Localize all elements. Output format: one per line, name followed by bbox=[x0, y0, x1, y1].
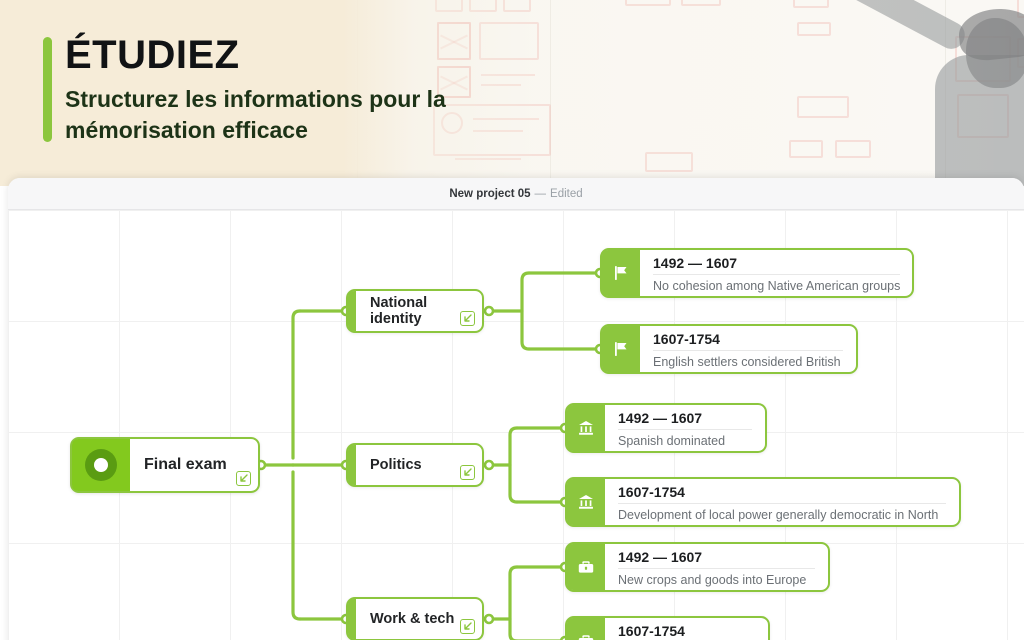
leaf-title: 1607-1754 bbox=[618, 623, 755, 640]
leaf-node[interactable]: 1492 — 1607 Spanish dominated bbox=[565, 403, 767, 453]
leaf-node[interactable]: 1607-1754 Development of local power gen… bbox=[565, 477, 961, 527]
leaf-node[interactable]: 1607-1754 English settlers considered Br… bbox=[600, 324, 858, 374]
title-separator: — bbox=[535, 188, 547, 200]
banner-title: ÉTUDIEZ bbox=[65, 33, 240, 78]
collapse-arrow-icon[interactable] bbox=[460, 619, 475, 634]
flag-icon bbox=[602, 250, 640, 296]
leaf-title: 1492 — 1607 bbox=[618, 549, 815, 569]
window-title-bar: New project 05 — Edited bbox=[8, 178, 1024, 210]
leaf-title: 1492 — 1607 bbox=[653, 255, 900, 275]
leaf-node[interactable]: 1607-1754 Trade in New England bbox=[565, 616, 770, 640]
flag-icon bbox=[602, 326, 640, 372]
branch-accent-stub bbox=[348, 291, 356, 331]
promo-banner: ÉTUDIEZ Structurez les informations pour… bbox=[0, 0, 1024, 186]
leaf-subtitle: English settlers considered British bbox=[653, 351, 843, 369]
leaf-title: 1607-1754 bbox=[618, 484, 946, 504]
branch-node-politics[interactable]: Politics bbox=[346, 443, 484, 487]
leaf-title: 1607-1754 bbox=[653, 331, 843, 351]
leaf-node[interactable]: 1492 — 1607 New crops and goods into Eur… bbox=[565, 542, 830, 592]
briefcase-icon bbox=[567, 544, 605, 590]
project-title: New project 05 bbox=[449, 188, 530, 200]
branch-accent-stub bbox=[348, 445, 356, 485]
leaf-subtitle: Spanish dominated bbox=[618, 430, 752, 448]
branch-accent-stub bbox=[348, 599, 356, 639]
collapse-arrow-icon[interactable] bbox=[460, 311, 475, 326]
leaf-subtitle: Development of local power generally dem… bbox=[618, 504, 946, 522]
app-window: New project 05 — Edited bbox=[8, 178, 1024, 640]
branch-node-work-tech[interactable]: Work & tech bbox=[346, 597, 484, 640]
briefcase-icon bbox=[567, 618, 605, 640]
leaf-subtitle: New crops and goods into Europe bbox=[618, 569, 815, 587]
leaf-node[interactable]: 1492 — 1607 No cohesion among Native Ame… bbox=[600, 248, 914, 298]
collapse-arrow-icon[interactable] bbox=[460, 465, 475, 480]
bank-icon bbox=[567, 405, 605, 451]
branch-node-national-identity[interactable]: National identity bbox=[346, 289, 484, 333]
leaf-subtitle: No cohesion among Native American groups bbox=[653, 275, 900, 293]
target-ring-icon bbox=[72, 439, 130, 491]
leaf-title: 1492 — 1607 bbox=[618, 410, 752, 430]
bank-icon bbox=[567, 479, 605, 525]
edited-status: Edited bbox=[550, 188, 583, 200]
root-node[interactable]: Final exam bbox=[70, 437, 260, 493]
banner-subtitle: Structurez les informations pour la mémo… bbox=[65, 84, 485, 146]
mindmap-canvas[interactable]: Final exam National identity Politics bbox=[8, 210, 1024, 640]
collapse-arrow-icon[interactable] bbox=[236, 471, 251, 486]
accent-bar bbox=[43, 37, 52, 142]
